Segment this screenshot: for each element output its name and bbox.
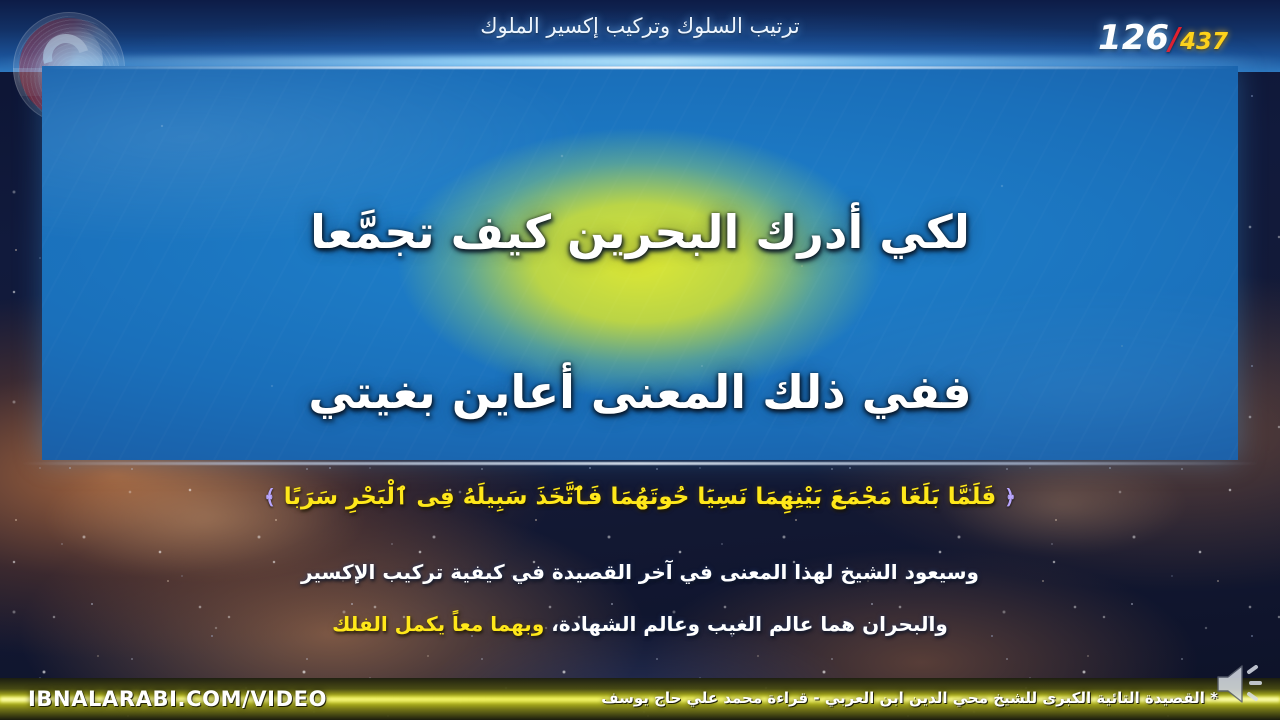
commentary-note-2-highlight: وبهما معاً يكمل الفلك <box>332 612 544 636</box>
commentary-note-1: وسيعود الشيخ لهذا المعنى في آخر القصيدة … <box>0 560 1280 584</box>
verse-line-1: لكي أدرك البحرين كيف تجمَّعا <box>42 206 1238 259</box>
counter-separator: / <box>1169 22 1180 57</box>
quran-verse-text: فَلَمَّا بَلَغَا مَجْمَعَ بَيْنِهِمَا نَ… <box>284 484 996 510</box>
speaker-icon[interactable] <box>1214 660 1268 706</box>
panel-top-edge <box>42 66 1238 69</box>
footer-band: IBNALARABI.COM/VIDEO * القصيدة التائية ا… <box>0 678 1280 720</box>
verse-panel: لكي أدرك البحرين كيف تجمَّعا ففي ذلك الم… <box>42 66 1238 460</box>
page-title: ترتيب السلوك وتركيب إكسير الملوك <box>0 14 1280 38</box>
commentary-note-2-plain: والبحران هما عالم الغيب وعالم الشهادة، <box>544 612 948 636</box>
commentary-note-2: والبحران هما عالم الغيب وعالم الشهادة، و… <box>0 612 1280 636</box>
ornament-open: ﴿ <box>1004 485 1016 509</box>
counter-current: 126 <box>1098 18 1169 58</box>
ornament-close: ﴾ <box>264 485 276 509</box>
verse-line-2: ففي ذلك المعنى أعاين بغيتي <box>42 366 1238 419</box>
site-url[interactable]: IBNALARABI.COM/VIDEO <box>28 687 327 711</box>
section-divider <box>20 462 1260 465</box>
verse-counter: 126/437 <box>1098 18 1228 58</box>
header-band: ترتيب السلوك وتركيب إكسير الملوك 126/437 <box>0 0 1280 72</box>
counter-total: 437 <box>1180 29 1228 55</box>
credit-text: * القصيدة التائية الكبرى للشيخ محي الدين… <box>601 689 1218 707</box>
slide-stage: ترتيب السلوك وتركيب إكسير الملوك 126/437… <box>0 0 1280 720</box>
quran-verse-line: ﴿ فَلَمَّا بَلَغَا مَجْمَعَ بَيْنِهِمَا … <box>0 484 1280 510</box>
